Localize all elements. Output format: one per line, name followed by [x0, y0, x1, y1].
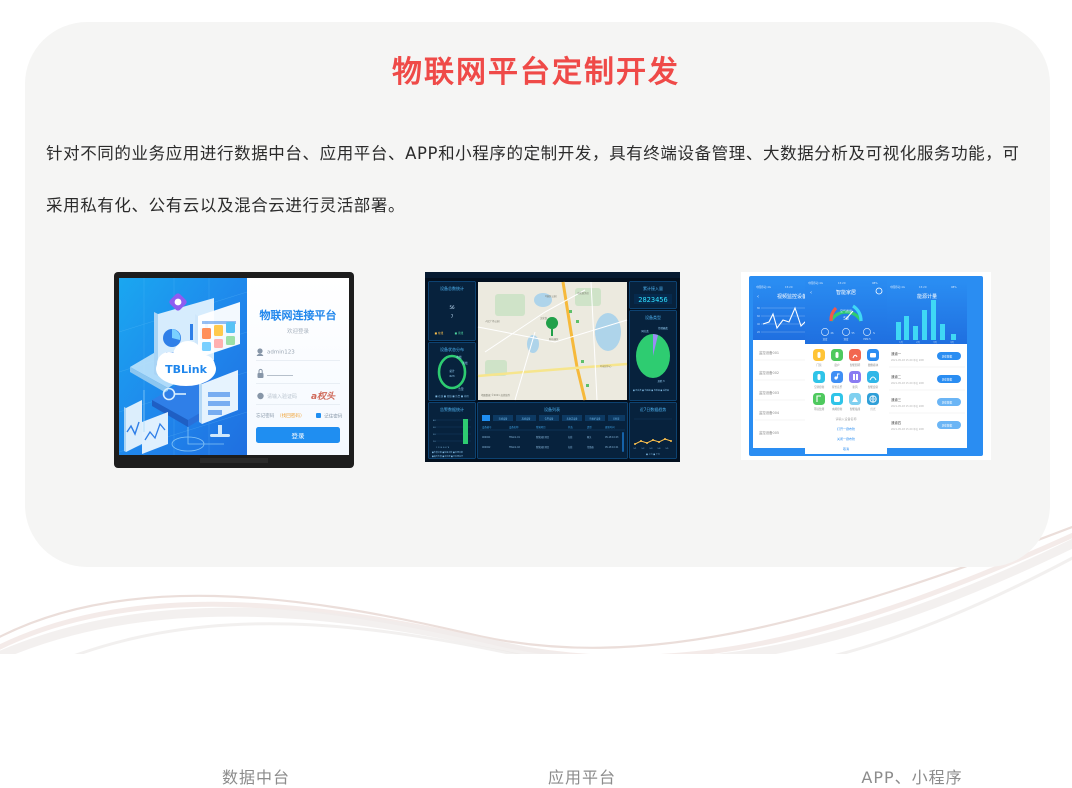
- login-panel-subtitle: 欢迎登录: [287, 327, 310, 335]
- svg-text:2021-05-18 15:20 单位 kWh: 2021-05-18 15:20 单位 kWh: [891, 427, 925, 431]
- svg-text:admin123: admin123: [267, 350, 295, 356]
- svg-text:待维护设备: 待维护设备: [590, 417, 602, 421]
- svg-text:4月: 4月: [950, 340, 954, 344]
- gauge-label: 空气质量: [840, 308, 852, 313]
- panel-title-stats: 设备总数统计: [440, 285, 464, 291]
- svg-text:80: 80: [757, 307, 761, 310]
- svg-text:新风: 新风: [852, 385, 858, 389]
- svg-text:20: 20: [757, 331, 761, 334]
- list-item: 监控设备005: [759, 430, 779, 435]
- svg-text:■ 在线 ■ 离线 ■ 告警 ■ 停用: ■ 在线 ■ 离线 ■ 告警 ■ 停用: [435, 394, 469, 398]
- svg-text:通道四: 通道四: [891, 420, 902, 425]
- svg-text:7: 7: [451, 314, 454, 319]
- svg-text:所属项目: 所属项目: [536, 425, 546, 429]
- svg-text:000002: 000002: [482, 446, 491, 449]
- svg-text:26: 26: [830, 332, 834, 335]
- svg-text:智慧园区项目: 智慧园区项目: [536, 445, 549, 449]
- page-description: 针对不同的业务应用进行数据中台、应用平台、APP和小程序的定制开发，具有终端设备…: [46, 128, 1026, 232]
- svg-text:离线设备: 离线设备: [522, 417, 532, 421]
- svg-text:历史数据: 历史数据: [942, 378, 953, 382]
- svg-text:地图数据 ©2021 高德软件: 地图数据 ©2021 高德软件: [481, 393, 511, 397]
- svg-text:a权头: a权头: [311, 391, 336, 402]
- svg-text:000001: 000001: [482, 436, 491, 439]
- svg-text:在线: 在线: [456, 355, 462, 359]
- svg-text:中央商务区: 中央商务区: [577, 291, 590, 295]
- svg-text:登录: 登录: [292, 431, 306, 440]
- svg-text:湿度: 湿度: [844, 337, 849, 341]
- svg-text:98%: 98%: [951, 285, 957, 289]
- login-submit-button: 登录: [256, 427, 340, 443]
- svg-text:类型: 类型: [587, 425, 592, 429]
- svg-text:网关类: 网关类: [641, 329, 649, 333]
- caption-app-miniprogram: APP、小程序: [702, 764, 1072, 788]
- svg-text:空调控制: 空调控制: [814, 385, 825, 389]
- svg-text:请输入验证码: 请输入验证码: [267, 393, 297, 400]
- link-close-all: 关闭一键布防: [837, 436, 855, 441]
- panel-title-pie: 设备类型: [645, 314, 661, 320]
- link-open-all: 打开一键布防: [837, 426, 855, 431]
- svg-text:摄像模块: 摄像模块: [868, 363, 879, 367]
- svg-text:2月: 2月: [916, 340, 920, 344]
- svg-text:2021-05-18 15:20 单位 kWh: 2021-05-18 15:20 单位 kWh: [891, 358, 925, 362]
- svg-text:已停用: 已停用: [613, 417, 620, 421]
- svg-text:通道一: 通道一: [891, 351, 902, 356]
- svg-text:监控设备005: 监控设备005: [759, 430, 779, 435]
- svg-text:更新时间: 更新时间: [605, 425, 615, 429]
- svg-text:2021-05-18 15:20 单位 kWh: 2021-05-18 15:20 单位 kWh: [891, 404, 925, 408]
- svg-text:5/5: 5/5: [666, 448, 669, 450]
- svg-text:其他 3: 其他 3: [657, 379, 665, 383]
- svg-text:智能照明: 智能照明: [850, 363, 861, 367]
- svg-text:告警: 告警: [458, 387, 464, 391]
- svg-text:文化馆: 文化馆: [540, 316, 548, 320]
- svg-text:窗户: 窗户: [834, 363, 840, 367]
- svg-text:智能插座: 智能插座: [850, 407, 861, 411]
- svg-text:PM2.5: PM2.5: [863, 338, 871, 341]
- svg-text:2021-05-18 15:20 单位 kWh: 2021-05-18 15:20 单位 kWh: [891, 381, 925, 385]
- svg-text:15:20: 15:20: [919, 285, 927, 289]
- svg-text:设备编号: 设备编号: [482, 425, 492, 429]
- svg-text:未激活设备: 未激活设备: [567, 417, 579, 421]
- svg-text:科技园区: 科技园区: [549, 337, 559, 341]
- svg-text:水阀控制: 水阀控制: [832, 407, 843, 411]
- svg-text:Q市民中心: Q市民中心: [600, 364, 612, 368]
- svg-text:55: 55: [851, 332, 855, 335]
- svg-text:记住密码: 记住密码: [324, 413, 343, 420]
- energy-phone-title: 能源计量: [917, 293, 937, 300]
- svg-text:告警设备: 告警设备: [545, 417, 555, 421]
- svg-text:2823456: 2823456: [638, 296, 668, 304]
- svg-text:温度: 温度: [823, 337, 828, 341]
- screenshot-app-miniprogram[interactable]: 中国移动 4G15:2098% 视频监控设备 ‹ 80604020 监控设备00…: [741, 272, 991, 460]
- svg-text:05-18 10:21: 05-18 10:21: [605, 446, 619, 449]
- panel-title-bar: 告警数据统计: [440, 406, 464, 412]
- svg-text:1月: 1月: [899, 340, 903, 344]
- svg-text:TBLink: TBLink: [165, 363, 207, 376]
- svg-text:5/3: 5/3: [650, 448, 653, 450]
- svg-text:5/2: 5/2: [642, 448, 645, 450]
- login-panel-title: 物联网连接平台: [260, 308, 337, 322]
- svg-text:■ 在线: ■ 在线: [435, 331, 444, 335]
- svg-text:忘记密码: 忘记密码: [256, 412, 275, 419]
- svg-text:监控设备002: 监控设备002: [759, 370, 779, 375]
- svg-text:中国移动 4G: 中国移动 4G: [756, 285, 771, 289]
- svg-text:设备名称: 设备名称: [509, 425, 519, 429]
- svg-text:15:20: 15:20: [785, 285, 793, 289]
- energy-phone: 中国移动 4G15:2098% 能源计量 1月2月3月4月 通道一 2021-0…: [887, 282, 967, 448]
- svg-text:监控设备003: 监控设备003: [759, 390, 779, 395]
- svg-text:监控设备001: 监控设备001: [759, 350, 779, 355]
- smarthome-phone: 中国移动 4G15:2098% 智能家居 ‹ 空气质量 58 温度26 湿度55…: [805, 278, 887, 454]
- svg-text:3月: 3月: [933, 340, 937, 344]
- svg-text:传感器类: 传感器类: [658, 326, 668, 330]
- svg-text:背景音乐: 背景音乐: [832, 385, 843, 389]
- svg-text:60: 60: [757, 315, 761, 318]
- svg-text:历史数据: 历史数据: [942, 424, 953, 428]
- svg-text:56: 56: [449, 305, 455, 310]
- screenshot-data-midend[interactable]: TBLink 物联网连接平台 欢迎登录 admin123: [114, 272, 354, 468]
- input-hint: 请输入设备名称: [835, 416, 856, 421]
- table-tabs: 在线设备离线设备告警设备未激活设备待维护设备已停用: [482, 415, 625, 421]
- svg-text:监控设备004: 监控设备004: [759, 410, 779, 415]
- svg-text:TBLink-02: TBLink-02: [509, 446, 520, 449]
- svg-text:623: 623: [450, 374, 455, 378]
- svg-text:离线: 离线: [462, 361, 468, 365]
- svg-text:‹: ‹: [757, 294, 759, 300]
- svg-text:通道二: 通道二: [891, 374, 902, 379]
- svg-text:Q园区公园: Q园区公园: [545, 294, 557, 298]
- svg-text:中国移动 4G: 中国移动 4G: [890, 285, 905, 289]
- svg-text:TBLink-01: TBLink-01: [509, 436, 520, 439]
- panel-title-counter: 累计接入量: [643, 285, 663, 291]
- svg-text:在线设备: 在线设备: [499, 417, 509, 421]
- svg-text:通道三: 通道三: [891, 397, 902, 402]
- panel-title-trend: 近7日数据趋势: [640, 406, 667, 412]
- smarthome-phone-title: 智能家居: [836, 289, 856, 296]
- svg-text:状态: 状态: [568, 425, 573, 429]
- counter-value: 2823456: [634, 294, 672, 304]
- svg-text:传感器: 传感器: [587, 445, 594, 449]
- svg-text:环境监测: 环境监测: [814, 407, 825, 411]
- svg-text:智慧园区项目: 智慧园区项目: [536, 435, 549, 439]
- svg-text:■ 离线: ■ 离线: [455, 331, 464, 335]
- svg-text:历史数据: 历史数据: [942, 401, 953, 405]
- svg-text:1 2 3 4 5 6 7 8: 1 2 3 4 5 6 7 8: [436, 447, 450, 449]
- panel-title-table: 设备列表: [544, 406, 560, 412]
- panel-title-donut: 设备状态分布: [440, 346, 464, 352]
- svg-text:40: 40: [757, 323, 761, 326]
- svg-text:历史数据: 历史数据: [942, 355, 953, 359]
- svg-text:人民广场公园: 人民广场公园: [485, 319, 500, 323]
- svg-text:05-18 10:23: 05-18 10:23: [605, 436, 619, 439]
- svg-text:5/1: 5/1: [634, 448, 637, 450]
- svg-text:门禁: 门禁: [816, 363, 822, 367]
- monitor-phone-title: 视频监控设备: [777, 293, 807, 300]
- svg-text:总计: 总计: [449, 369, 455, 373]
- svg-text:灯光: 灯光: [870, 407, 876, 411]
- link-cancel: 取消: [843, 446, 849, 451]
- page-title: 物联网平台定制开发: [0, 47, 1072, 91]
- svg-text:智能窗帘: 智能窗帘: [868, 385, 879, 389]
- svg-text:中国移动 4G: 中国移动 4G: [808, 281, 823, 285]
- svg-text:（找回密码）: （找回密码）: [277, 412, 305, 419]
- svg-text:15:20: 15:20: [838, 281, 846, 285]
- svg-text:‹: ‹: [810, 290, 812, 296]
- svg-text:98%: 98%: [872, 281, 878, 285]
- screenshot-app-platform[interactable]: 设备总数统计 设备状态分布 告警数据统计 累计接入量 设备类型 近7日数据趋势 …: [425, 272, 680, 462]
